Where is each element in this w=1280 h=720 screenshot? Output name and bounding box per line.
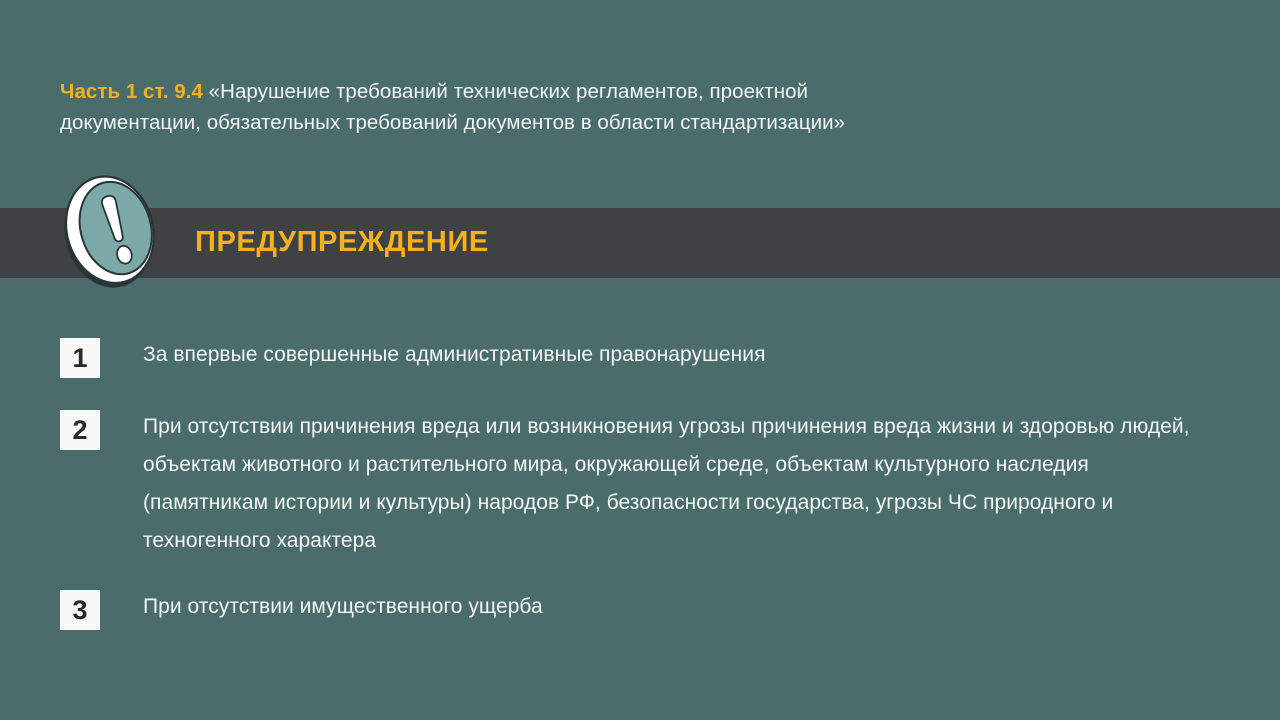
title-line-2: документации, обязательных требований до… (60, 107, 1180, 138)
list-item-text: За впервые совершенные административные … (143, 336, 1240, 374)
list-item-number-badge: 3 (60, 590, 100, 630)
title-line-1: Часть 1 ст. 9.4 «Нарушение требований те… (60, 76, 1180, 107)
banner-heading: ПРЕДУПРЕЖДЕНИЕ (195, 224, 489, 260)
list-item-number-badge: 2 (60, 410, 100, 450)
list-item-text: При отсутствии причинения вреда или возн… (143, 408, 1218, 560)
title-article-reference: Часть 1 ст. 9.4 (60, 80, 203, 103)
warning-banner (0, 208, 1280, 278)
list-item-text: При отсутствии имущественного ущерба (143, 588, 1240, 626)
list-item: 1 За впервые совершенные административны… (60, 336, 1240, 378)
exclamation-disc-icon (55, 168, 163, 292)
list-item: 3 При отсутствии имущественного ущерба (60, 588, 1240, 630)
title-line-1-rest: «Нарушение требований технических реглам… (203, 80, 808, 103)
list-item: 2 При отсутствии причинения вреда или во… (60, 408, 1240, 560)
list-item-number-badge: 1 (60, 338, 100, 378)
slide-root: Часть 1 ст. 9.4 «Нарушение требований те… (0, 0, 1280, 720)
page-title: Часть 1 ст. 9.4 «Нарушение требований те… (60, 76, 1180, 138)
numbered-conditions-list: 1 За впервые совершенные административны… (60, 336, 1240, 630)
